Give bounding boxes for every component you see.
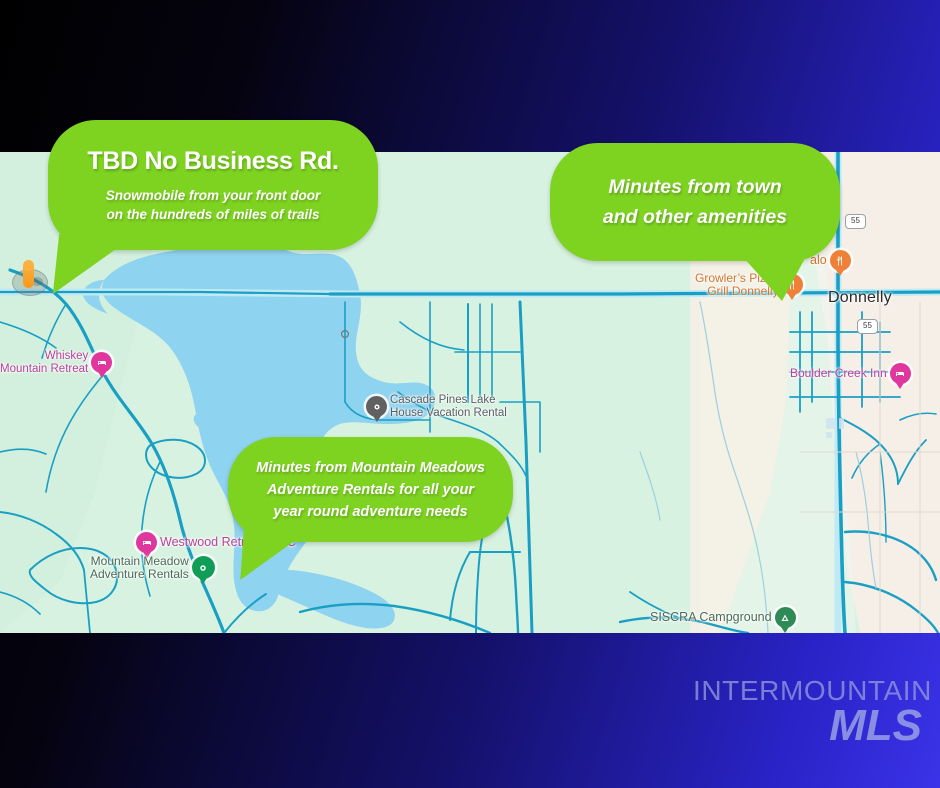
- callout-title: TBD No Business Rd.: [87, 147, 338, 176]
- watermark-line2: MLS: [693, 704, 922, 748]
- poi-label: SISCRA Campground: [650, 611, 772, 624]
- poi-label: Cascade Pines Lake House Vacation Rental: [390, 394, 507, 419]
- pegman-icon[interactable]: [12, 262, 46, 296]
- poi-label-line1: Cascade Pines Lake: [390, 394, 507, 407]
- callout-line3: year round adventure needs: [256, 501, 485, 523]
- restaurant-icon: [830, 250, 851, 271]
- poi-whiskey-mountain-retreat[interactable]: Whiskey Mountain Retreat: [0, 350, 112, 375]
- callout-line2: on the hundreds of miles of trails: [106, 205, 321, 224]
- poi-label-line1: Whiskey: [0, 350, 88, 363]
- place-icon: [366, 396, 387, 417]
- callout-line1: Minutes from Mountain Meadows: [256, 457, 485, 479]
- listing-graphic: Whiskey Mountain Retreat Westwood Retrea…: [0, 0, 940, 788]
- bubble-tail: [240, 530, 309, 580]
- poi-label-line2: Adventure Rentals: [90, 568, 189, 581]
- callout-body: Snowmobile from your front door on the h…: [106, 186, 321, 224]
- callout-line2: Adventure Rentals for all your: [256, 479, 485, 501]
- callout-address: TBD No Business Rd. Snowmobile from your…: [48, 120, 378, 250]
- bubble-tail: [736, 249, 810, 301]
- poi-label-line2: House Vacation Rental: [390, 407, 507, 420]
- callout-line2: and other amenities: [603, 202, 787, 232]
- callout-rentals: Minutes from Mountain Meadows Adventure …: [228, 437, 513, 542]
- campground-icon: [775, 607, 796, 628]
- poi-label: Boulder Creek Inn: [790, 367, 887, 380]
- mls-watermark: INTERMOUNTAIN MLS: [693, 676, 932, 748]
- poi-boulder-creek-inn[interactable]: Boulder Creek Inn: [790, 363, 911, 384]
- poi-label-line1: Mountain Meadow: [90, 555, 189, 568]
- callout-body: Minutes from Mountain Meadows Adventure …: [256, 457, 485, 523]
- poi-mountain-meadow-adventure-rentals[interactable]: Mountain Meadow Adventure Rentals: [90, 555, 215, 580]
- poi-label: Whiskey Mountain Retreat: [0, 350, 88, 375]
- highway-shield-55-north: 55: [845, 214, 866, 229]
- poi-siscra-campground[interactable]: SISCRA Campground: [650, 607, 796, 628]
- highway-shield-55-south: 55: [857, 319, 878, 334]
- lodging-icon: [91, 352, 112, 373]
- callout-body: Minutes from town and other amenities: [603, 172, 787, 232]
- lodging-icon: [136, 532, 157, 553]
- callout-line1: Snowmobile from your front door: [106, 186, 321, 205]
- poi-cascade-pines-lake-house[interactable]: Cascade Pines Lake House Vacation Rental: [366, 394, 507, 419]
- bubble-tail: [53, 234, 137, 294]
- callout-town: Minutes from town and other amenities: [550, 143, 840, 261]
- map-town-label: Donnelly: [828, 292, 892, 305]
- lodging-icon: [890, 363, 911, 384]
- town-name: Donnelly: [828, 292, 892, 305]
- callout-line1: Minutes from town: [603, 172, 787, 202]
- poi-label: Mountain Meadow Adventure Rentals: [90, 555, 189, 580]
- pegman-head: [23, 260, 34, 271]
- rental-icon: [192, 556, 215, 579]
- poi-label-line2: Mountain Retreat: [0, 363, 88, 376]
